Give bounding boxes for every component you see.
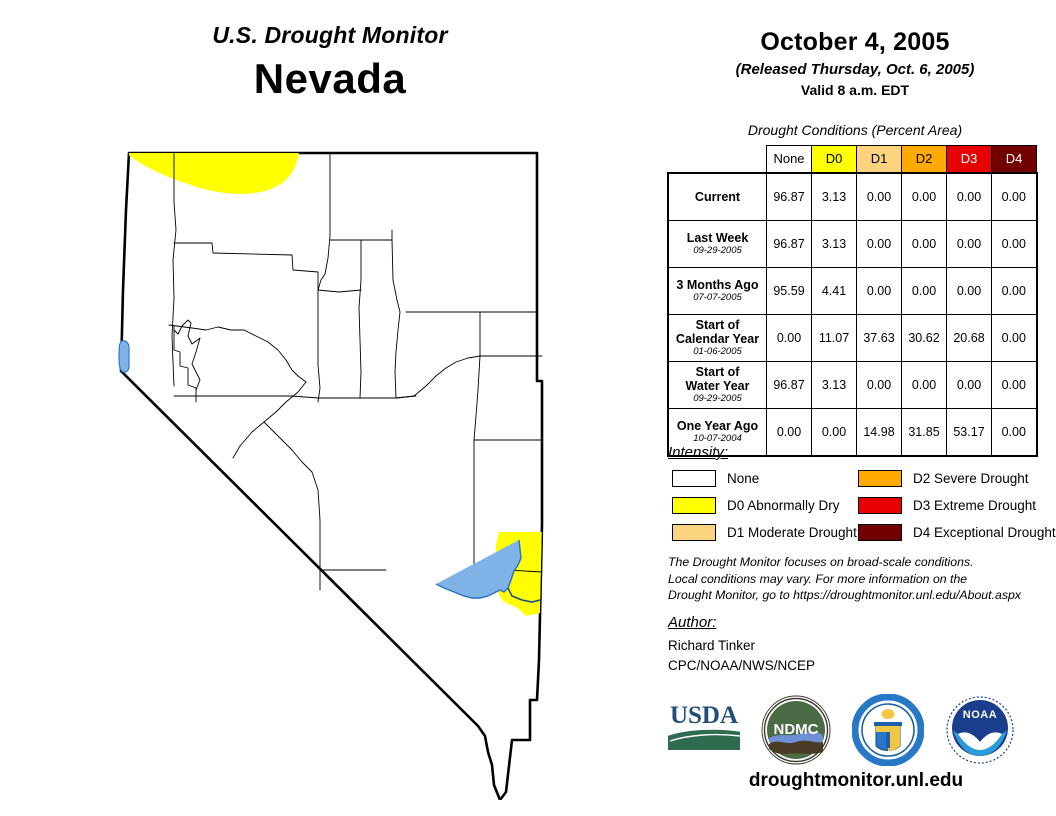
- table-row: Start ofWater Year09-29-200596.873.130.0…: [668, 362, 1037, 409]
- cell-value: 0.00: [992, 315, 1037, 362]
- column-header-d2: D2: [902, 146, 947, 174]
- row-label-text: Last Week: [687, 231, 749, 245]
- cell-value: 3.13: [812, 362, 857, 409]
- table-row: Last Week09-29-200596.873.130.000.000.00…: [668, 221, 1037, 268]
- row-label-date: 09-29-2005: [669, 394, 766, 405]
- cell-value: 3.13: [812, 221, 857, 268]
- cell-value: 53.17: [947, 409, 992, 457]
- cell-value: 0.00: [857, 362, 902, 409]
- noaa-logo-text: NOAA: [963, 709, 997, 721]
- cell-value: 96.87: [767, 173, 812, 221]
- map-title-block: U.S. Drought Monitor Nevada: [0, 22, 660, 103]
- cell-value: 0.00: [902, 268, 947, 315]
- legend-item-1: D0 Abnormally Dry: [672, 497, 840, 514]
- row-label: Last Week09-29-2005: [668, 221, 767, 268]
- author-block: Richard Tinker CPC/NOAA/NWS/NCEP: [668, 636, 815, 675]
- nevada-drought-map[interactable]: [96, 140, 566, 800]
- cell-value: 96.87: [767, 362, 812, 409]
- disclaimer-line-3: Drought Monitor, go to https://droughtmo…: [668, 587, 1040, 604]
- release-date: (Released Thursday, Oct. 6, 2005): [666, 61, 1044, 78]
- cell-value: 14.98: [857, 409, 902, 457]
- row-label-text: Start ofCalendar Year: [676, 318, 759, 346]
- usda-logo-text: USDA: [670, 702, 738, 729]
- legend-label: D0 Abnormally Dry: [727, 498, 840, 513]
- row-label-text: Current: [695, 190, 740, 204]
- legend-swatch: [858, 497, 902, 514]
- row-label-date: 09-29-2005: [669, 246, 766, 257]
- disclaimer-text: The Drought Monitor focuses on broad-sca…: [668, 554, 1040, 604]
- noaa-logo[interactable]: NOAA: [944, 694, 1016, 766]
- column-header-d3: D3: [947, 146, 992, 174]
- disclaimer-line-1: The Drought Monitor focuses on broad-sca…: [668, 554, 1040, 571]
- table-body: Current96.873.130.000.000.000.00Last Wee…: [668, 173, 1037, 456]
- row-label-text: Start ofWater Year: [686, 365, 750, 393]
- cell-value: 30.62: [902, 315, 947, 362]
- legend-swatch: [672, 470, 716, 487]
- legend-item-0: None: [672, 470, 759, 487]
- legend-swatch: [858, 470, 902, 487]
- cell-value: 0.00: [947, 362, 992, 409]
- cell-value: 0.00: [902, 173, 947, 221]
- author-affiliation: CPC/NOAA/NWS/NCEP: [668, 656, 815, 676]
- cell-value: 0.00: [947, 221, 992, 268]
- cell-value: 20.68: [947, 315, 992, 362]
- report-header: October 4, 2005 (Released Thursday, Oct.…: [666, 28, 1044, 98]
- usda-logo[interactable]: USDA: [664, 698, 744, 754]
- agency-logos: USDA NDMC NOAA: [660, 692, 1050, 772]
- legend-heading: Intensity:: [668, 444, 728, 461]
- state-title: Nevada: [0, 55, 660, 103]
- row-label-text: One Year Ago: [677, 419, 758, 433]
- ndmc-logo-text: NDMC: [774, 721, 819, 738]
- column-header-d0: D0: [812, 146, 857, 174]
- cell-value: 0.00: [902, 362, 947, 409]
- valid-time: Valid 8 a.m. EDT: [666, 82, 1044, 98]
- cell-value: 0.00: [992, 221, 1037, 268]
- cell-value: 0.00: [992, 173, 1037, 221]
- row-label: Start ofCalendar Year01-06-2005: [668, 315, 767, 362]
- table-row: 3 Months Ago07-07-200595.594.410.000.000…: [668, 268, 1037, 315]
- cell-value: 0.00: [857, 221, 902, 268]
- page-title: U.S. Drought Monitor: [0, 22, 660, 49]
- cell-value: 11.07: [812, 315, 857, 362]
- cell-value: 3.13: [812, 173, 857, 221]
- map-svg: [96, 140, 566, 800]
- legend-item-2: D1 Moderate Drought: [672, 524, 857, 541]
- state-outline-nevada: [121, 153, 542, 800]
- cell-value: 37.63: [857, 315, 902, 362]
- row-label-date: 07-07-2005: [669, 293, 766, 304]
- legend-item-3: D2 Severe Drought: [858, 470, 1029, 487]
- ndmc-logo[interactable]: NDMC: [760, 694, 832, 766]
- legend-label: D2 Severe Drought: [913, 471, 1029, 486]
- row-label-date: 01-06-2005: [669, 347, 766, 358]
- author-name: Richard Tinker: [668, 636, 815, 656]
- commerce-logo[interactable]: [852, 694, 924, 766]
- disclaimer-line-2: Local conditions may vary. For more info…: [668, 571, 1040, 588]
- legend-item-5: D4 Exceptional Drought: [858, 524, 1056, 541]
- row-label: Current: [668, 173, 767, 221]
- author-heading: Author:: [668, 614, 716, 631]
- table-row: Start ofCalendar Year01-06-20050.0011.07…: [668, 315, 1037, 362]
- legend-swatch: [672, 497, 716, 514]
- header-blank-cell: [668, 146, 767, 174]
- cell-value: 4.41: [812, 268, 857, 315]
- table-caption: Drought Conditions (Percent Area): [666, 122, 1044, 138]
- cell-value: 0.00: [992, 362, 1037, 409]
- legend-item-4: D3 Extreme Drought: [858, 497, 1036, 514]
- table-header-row: NoneD0D1D2D3D4: [668, 146, 1037, 174]
- cell-value: 0.00: [812, 409, 857, 457]
- legend-label: D4 Exceptional Drought: [913, 525, 1056, 540]
- cell-value: 0.00: [857, 268, 902, 315]
- cell-value: 0.00: [902, 221, 947, 268]
- legend-swatch: [858, 524, 902, 541]
- legend-label: None: [727, 471, 759, 486]
- row-label: 3 Months Ago07-07-2005: [668, 268, 767, 315]
- row-label: Start ofWater Year09-29-2005: [668, 362, 767, 409]
- legend-label: D3 Extreme Drought: [913, 498, 1036, 513]
- legend-swatch: [672, 524, 716, 541]
- drought-conditions-table: NoneD0D1D2D3D4 Current96.873.130.000.000…: [667, 145, 1038, 457]
- table-row: Current96.873.130.000.000.000.00: [668, 173, 1037, 221]
- cell-value: 0.00: [857, 173, 902, 221]
- column-header-d1: D1: [857, 146, 902, 174]
- cell-value: 31.85: [902, 409, 947, 457]
- legend-label: D1 Moderate Drought: [727, 525, 857, 540]
- row-label-text: 3 Months Ago: [676, 278, 758, 292]
- cell-value: 0.00: [767, 409, 812, 457]
- column-header-d4: D4: [992, 146, 1037, 174]
- cell-value: 96.87: [767, 221, 812, 268]
- cell-value: 0.00: [992, 409, 1037, 457]
- cell-value: 0.00: [947, 173, 992, 221]
- lake-tahoe: [119, 341, 129, 372]
- report-date: October 4, 2005: [666, 28, 1044, 57]
- site-url[interactable]: droughtmonitor.unl.edu: [666, 770, 1046, 792]
- column-header-none: None: [767, 146, 812, 174]
- cell-value: 0.00: [992, 268, 1037, 315]
- cell-value: 95.59: [767, 268, 812, 315]
- cell-value: 0.00: [947, 268, 992, 315]
- cell-value: 0.00: [767, 315, 812, 362]
